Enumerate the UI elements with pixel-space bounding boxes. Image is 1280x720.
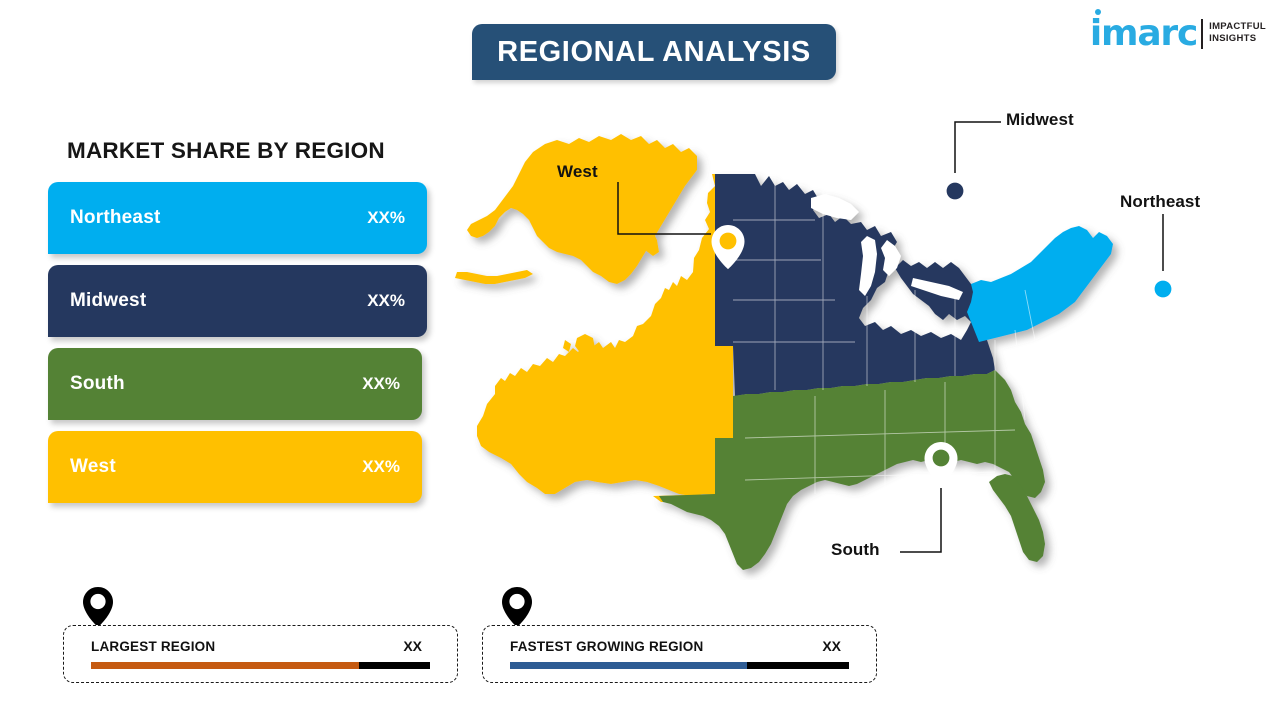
region-bar-midwest[interactable]: Midwest XX%	[48, 265, 427, 337]
page-title: REGIONAL ANALYSIS	[497, 36, 811, 69]
callout-label-west: West	[557, 162, 598, 182]
map-inset-aleutians	[455, 270, 533, 284]
region-bar-west[interactable]: West XX%	[48, 431, 422, 503]
us-regional-map: West Midwest Northeast South	[415, 90, 1280, 580]
map-region-northeast	[967, 226, 1113, 342]
largest-region-content: LARGEST REGION XX	[91, 638, 430, 669]
fastest-growing-region-label: FASTEST GROWING REGION	[510, 639, 703, 654]
map-pin-northeast	[1147, 273, 1180, 317]
callout-label-south: South	[831, 540, 880, 560]
map-pin-midwest	[939, 175, 972, 219]
region-bar-label: Midwest	[70, 290, 146, 312]
largest-region-label: LARGEST REGION	[91, 639, 215, 654]
fastest-growing-region-content: FASTEST GROWING REGION XX	[510, 638, 849, 669]
fastest-growing-region-value: XX	[822, 638, 849, 654]
fastest-growing-region-stat: FASTEST GROWING REGION XX	[482, 585, 877, 685]
fastest-growing-region-row: FASTEST GROWING REGION XX	[510, 638, 849, 654]
leader-line-midwest	[955, 122, 1001, 173]
region-bar-label: South	[70, 373, 125, 395]
fastest-growing-region-progress-fill	[510, 662, 747, 669]
logo-brand-text: imarc	[1090, 16, 1197, 52]
map-inset-alaska	[467, 134, 697, 284]
logo-tagline-line1: IMPACTFUL	[1209, 21, 1266, 33]
region-bar-value: XX%	[362, 457, 400, 477]
fastest-growing-region-progress-track	[510, 662, 849, 669]
map-pin-south	[925, 442, 958, 486]
largest-region-progress-track	[91, 662, 430, 669]
logo-dot-icon	[1095, 9, 1101, 15]
leader-line-south	[900, 488, 941, 552]
region-bar-label: Northeast	[70, 207, 160, 229]
logo-tagline-line2: INSIGHTS	[1209, 33, 1266, 45]
logo-wordmark: imarc	[1090, 16, 1197, 52]
logo-divider	[1201, 19, 1203, 49]
logo-tagline: IMPACTFUL INSIGHTS	[1209, 21, 1266, 44]
largest-region-row: LARGEST REGION XX	[91, 638, 430, 654]
largest-region-box: LARGEST REGION XX	[63, 625, 458, 683]
region-bar-value: XX%	[367, 208, 405, 228]
largest-region-stat: LARGEST REGION XX	[63, 585, 458, 685]
imarc-logo: imarc IMPACTFUL INSIGHTS	[1090, 16, 1266, 62]
region-bar-south[interactable]: South XX%	[48, 348, 422, 420]
region-bar-value: XX%	[367, 291, 405, 311]
fastest-growing-region-box: FASTEST GROWING REGION XX	[482, 625, 877, 683]
region-bar-label: West	[70, 456, 116, 478]
region-share-list: Northeast XX% Midwest XX% South XX% West…	[48, 182, 438, 514]
largest-region-progress-fill	[91, 662, 359, 669]
market-share-heading: MARKET SHARE BY REGION	[67, 138, 385, 164]
map-lake-superior	[811, 194, 859, 220]
page-title-banner: REGIONAL ANALYSIS	[472, 24, 836, 80]
region-bar-northeast[interactable]: Northeast XX%	[48, 182, 427, 254]
map-inset-hawaii-2	[563, 340, 571, 352]
callout-label-northeast: Northeast	[1120, 192, 1200, 212]
callout-label-midwest: Midwest	[1006, 110, 1074, 130]
region-bar-value: XX%	[362, 374, 400, 394]
largest-region-value: XX	[403, 638, 430, 654]
